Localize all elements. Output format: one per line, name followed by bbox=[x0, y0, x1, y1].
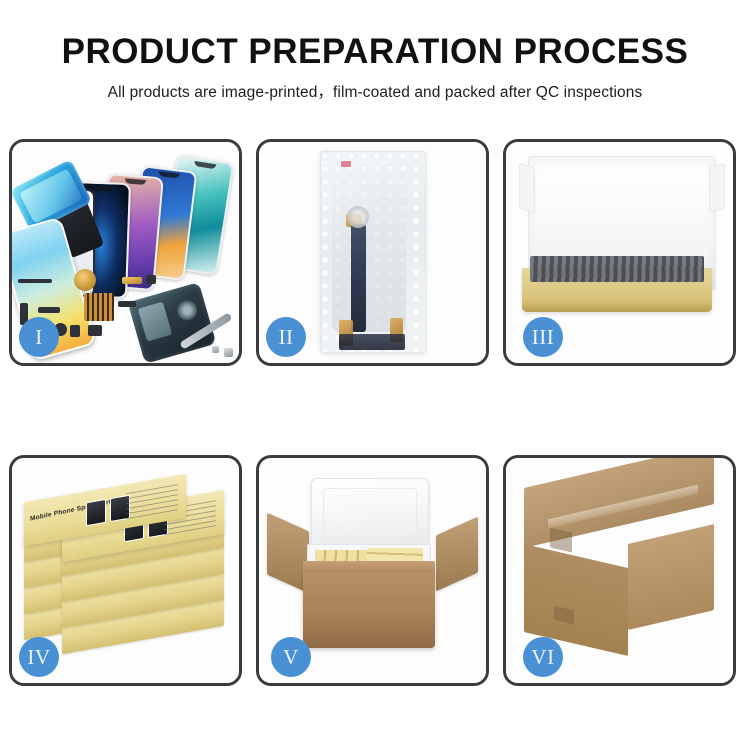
page-title: PRODUCT PREPARATION PROCESS bbox=[0, 34, 750, 71]
header: PRODUCT PREPARATION PROCESS All products… bbox=[0, 34, 750, 102]
qc-sticker-icon bbox=[341, 161, 351, 167]
step-badge-2: II bbox=[266, 317, 306, 357]
speaker-module-icon bbox=[74, 269, 96, 291]
tape-tab-icon bbox=[550, 527, 572, 552]
step-badge-1: I bbox=[19, 317, 59, 357]
lcd-screen-icon bbox=[332, 168, 406, 332]
kraft-tray-lip-icon bbox=[522, 300, 712, 312]
notch-icon bbox=[158, 171, 179, 178]
phone-thumbnail-icon bbox=[86, 499, 106, 527]
battery-connector-icon bbox=[88, 325, 102, 336]
flex-cable-icon bbox=[122, 277, 142, 284]
box-stack-group: Mobile Phone Spare Parts Mobile Phone Sp… bbox=[22, 478, 232, 668]
process-step-grid: I II bbox=[9, 139, 742, 686]
notch-icon bbox=[194, 161, 216, 169]
process-step-3[interactable]: III bbox=[503, 139, 736, 366]
notch-icon bbox=[92, 186, 113, 192]
process-step-6[interactable]: VI bbox=[503, 455, 736, 686]
page-subtitle: All products are image-printed，film-coat… bbox=[0, 80, 750, 102]
tweezers-icon bbox=[179, 312, 232, 350]
step-badge-3: III bbox=[523, 317, 563, 357]
notch-icon bbox=[125, 178, 146, 185]
foam-box-lid-icon bbox=[311, 478, 429, 550]
screw-icon bbox=[212, 346, 219, 353]
step-badge-6: VI bbox=[523, 637, 563, 677]
step-badge-5: V bbox=[271, 637, 311, 677]
process-step-5[interactable]: V bbox=[256, 455, 489, 686]
antenna-strip-icon bbox=[38, 307, 60, 313]
carton-body-icon bbox=[303, 570, 435, 648]
sim-tray-icon bbox=[70, 325, 80, 337]
connector-strip-icon bbox=[339, 334, 405, 350]
step-badge-4: IV bbox=[19, 637, 59, 677]
screw-icon bbox=[224, 348, 233, 357]
bubble-wrap-bag-icon bbox=[320, 151, 426, 353]
carton-flap-right-icon bbox=[436, 517, 478, 592]
spec-lines-icon bbox=[126, 484, 178, 519]
product-preparation-infographic: PRODUCT PREPARATION PROCESS All products… bbox=[0, 0, 750, 750]
flex-cable-icon bbox=[351, 224, 366, 332]
charging-port-icon bbox=[118, 301, 136, 307]
carton-side-face bbox=[628, 524, 714, 630]
earpiece-mesh-icon bbox=[18, 279, 52, 283]
process-step-4[interactable]: Mobile Phone Spare Parts Mobile Phone Sp… bbox=[9, 455, 242, 686]
chip-array-icon bbox=[84, 293, 114, 321]
button-icon bbox=[146, 275, 156, 284]
process-step-2[interactable]: II bbox=[256, 139, 489, 366]
process-step-1[interactable]: I bbox=[9, 139, 242, 366]
sealed-carton-icon bbox=[524, 488, 714, 638]
